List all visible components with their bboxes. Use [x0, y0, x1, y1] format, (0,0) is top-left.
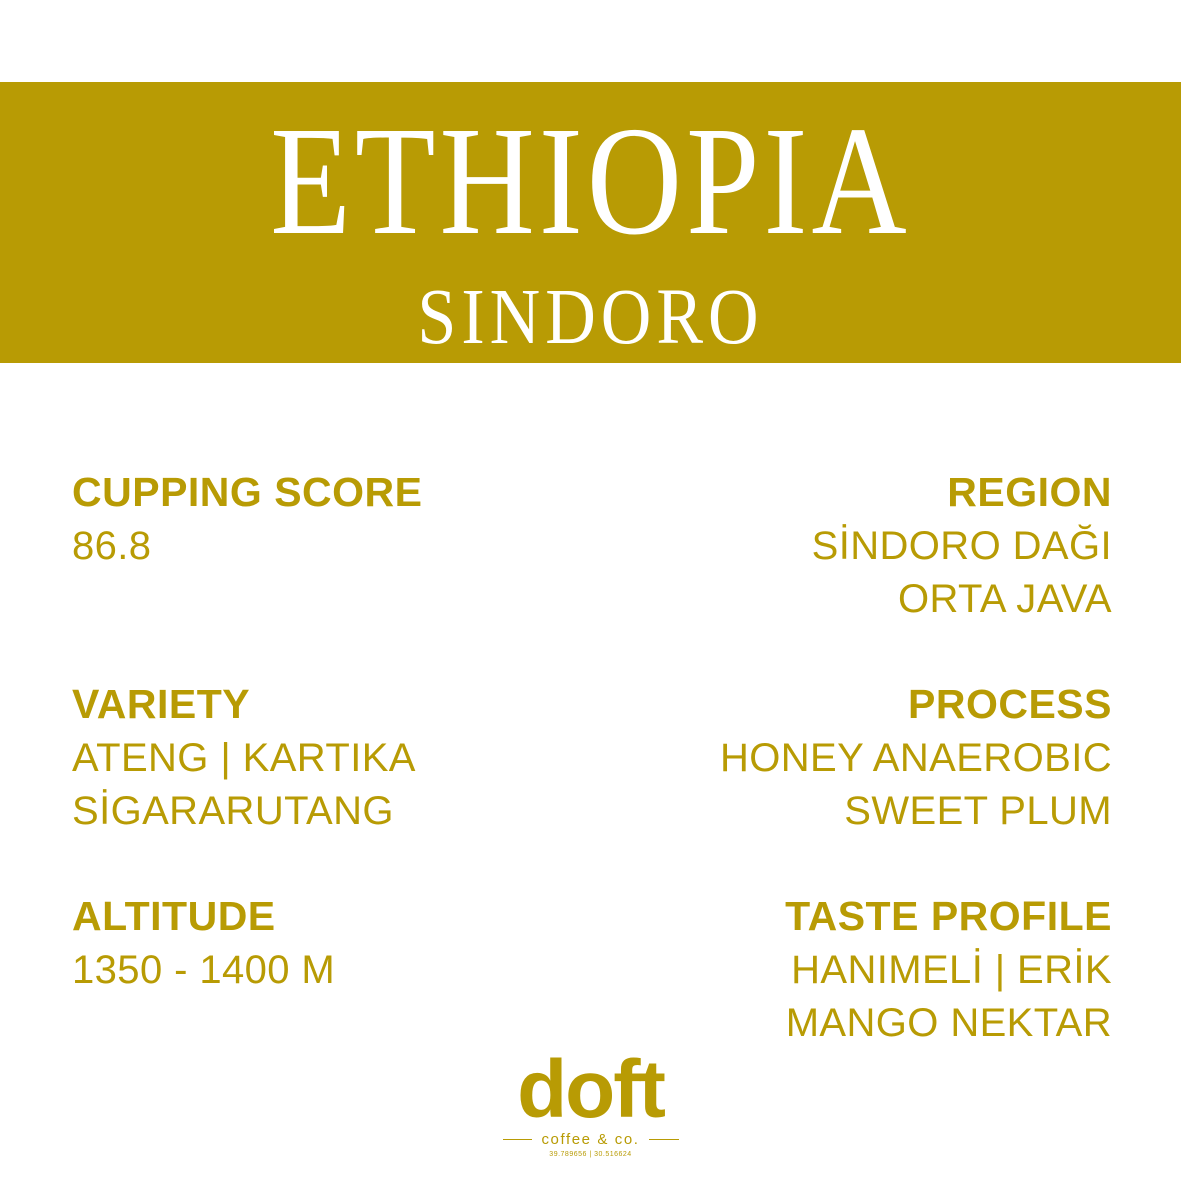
spec-value: HONEY ANAEROBIC — [612, 732, 1112, 785]
brand-tagline-row: coffee & co. — [503, 1132, 679, 1147]
spec-block-altitude: ALTITUDE 1350 - 1400 M — [72, 894, 572, 1050]
spec-value: SWEET PLUM — [612, 785, 1112, 838]
spec-value: ORTA JAVA — [612, 573, 1112, 626]
spec-block-taste-profile: TASTE PROFILE HANIMELİ | ERİK MANGO NEKT… — [612, 894, 1112, 1050]
brand-logo: doft coffee & co. 39.789656 | 30.516624 — [0, 1052, 1181, 1158]
brand-tagline: coffee & co. — [541, 1132, 639, 1147]
spec-value: HANIMELİ | ERİK — [612, 944, 1112, 997]
spec-block-cupping-score: CUPPING SCORE 86.8 — [72, 470, 572, 626]
spec-value: SİGARARUTANG — [72, 785, 572, 838]
brand-wordmark: doft — [517, 1052, 664, 1127]
spec-value: 86.8 — [72, 520, 572, 573]
spec-label: PROCESS — [612, 682, 1112, 726]
coffee-specs-grid: CUPPING SCORE 86.8 REGION SİNDORO DAĞI O… — [72, 470, 1112, 1050]
spec-value: SİNDORO DAĞI — [612, 520, 1112, 573]
spec-label: REGION — [612, 470, 1112, 514]
spec-value: 1350 - 1400 M — [72, 944, 572, 997]
spec-label: ALTITUDE — [72, 894, 572, 938]
spec-label: TASTE PROFILE — [612, 894, 1112, 938]
spec-block-region: REGION SİNDORO DAĞI ORTA JAVA — [612, 470, 1112, 626]
brand-coordinates: 39.789656 | 30.516624 — [549, 1151, 631, 1158]
spec-block-variety: VARIETY ATENG | KARTIKA SİGARARUTANG — [72, 682, 572, 838]
page-subtitle: SINDORO — [417, 237, 763, 358]
spec-block-process: PROCESS HONEY ANAEROBIC SWEET PLUM — [612, 682, 1112, 838]
spec-value: MANGO NEKTAR — [612, 997, 1112, 1050]
header-band: ETHIOPIA SINDORO — [0, 82, 1181, 363]
spec-label: CUPPING SCORE — [72, 470, 572, 514]
rule-right — [649, 1139, 679, 1140]
rule-left — [503, 1139, 533, 1140]
spec-value: ATENG | KARTIKA — [72, 732, 572, 785]
spec-label: VARIETY — [72, 682, 572, 726]
